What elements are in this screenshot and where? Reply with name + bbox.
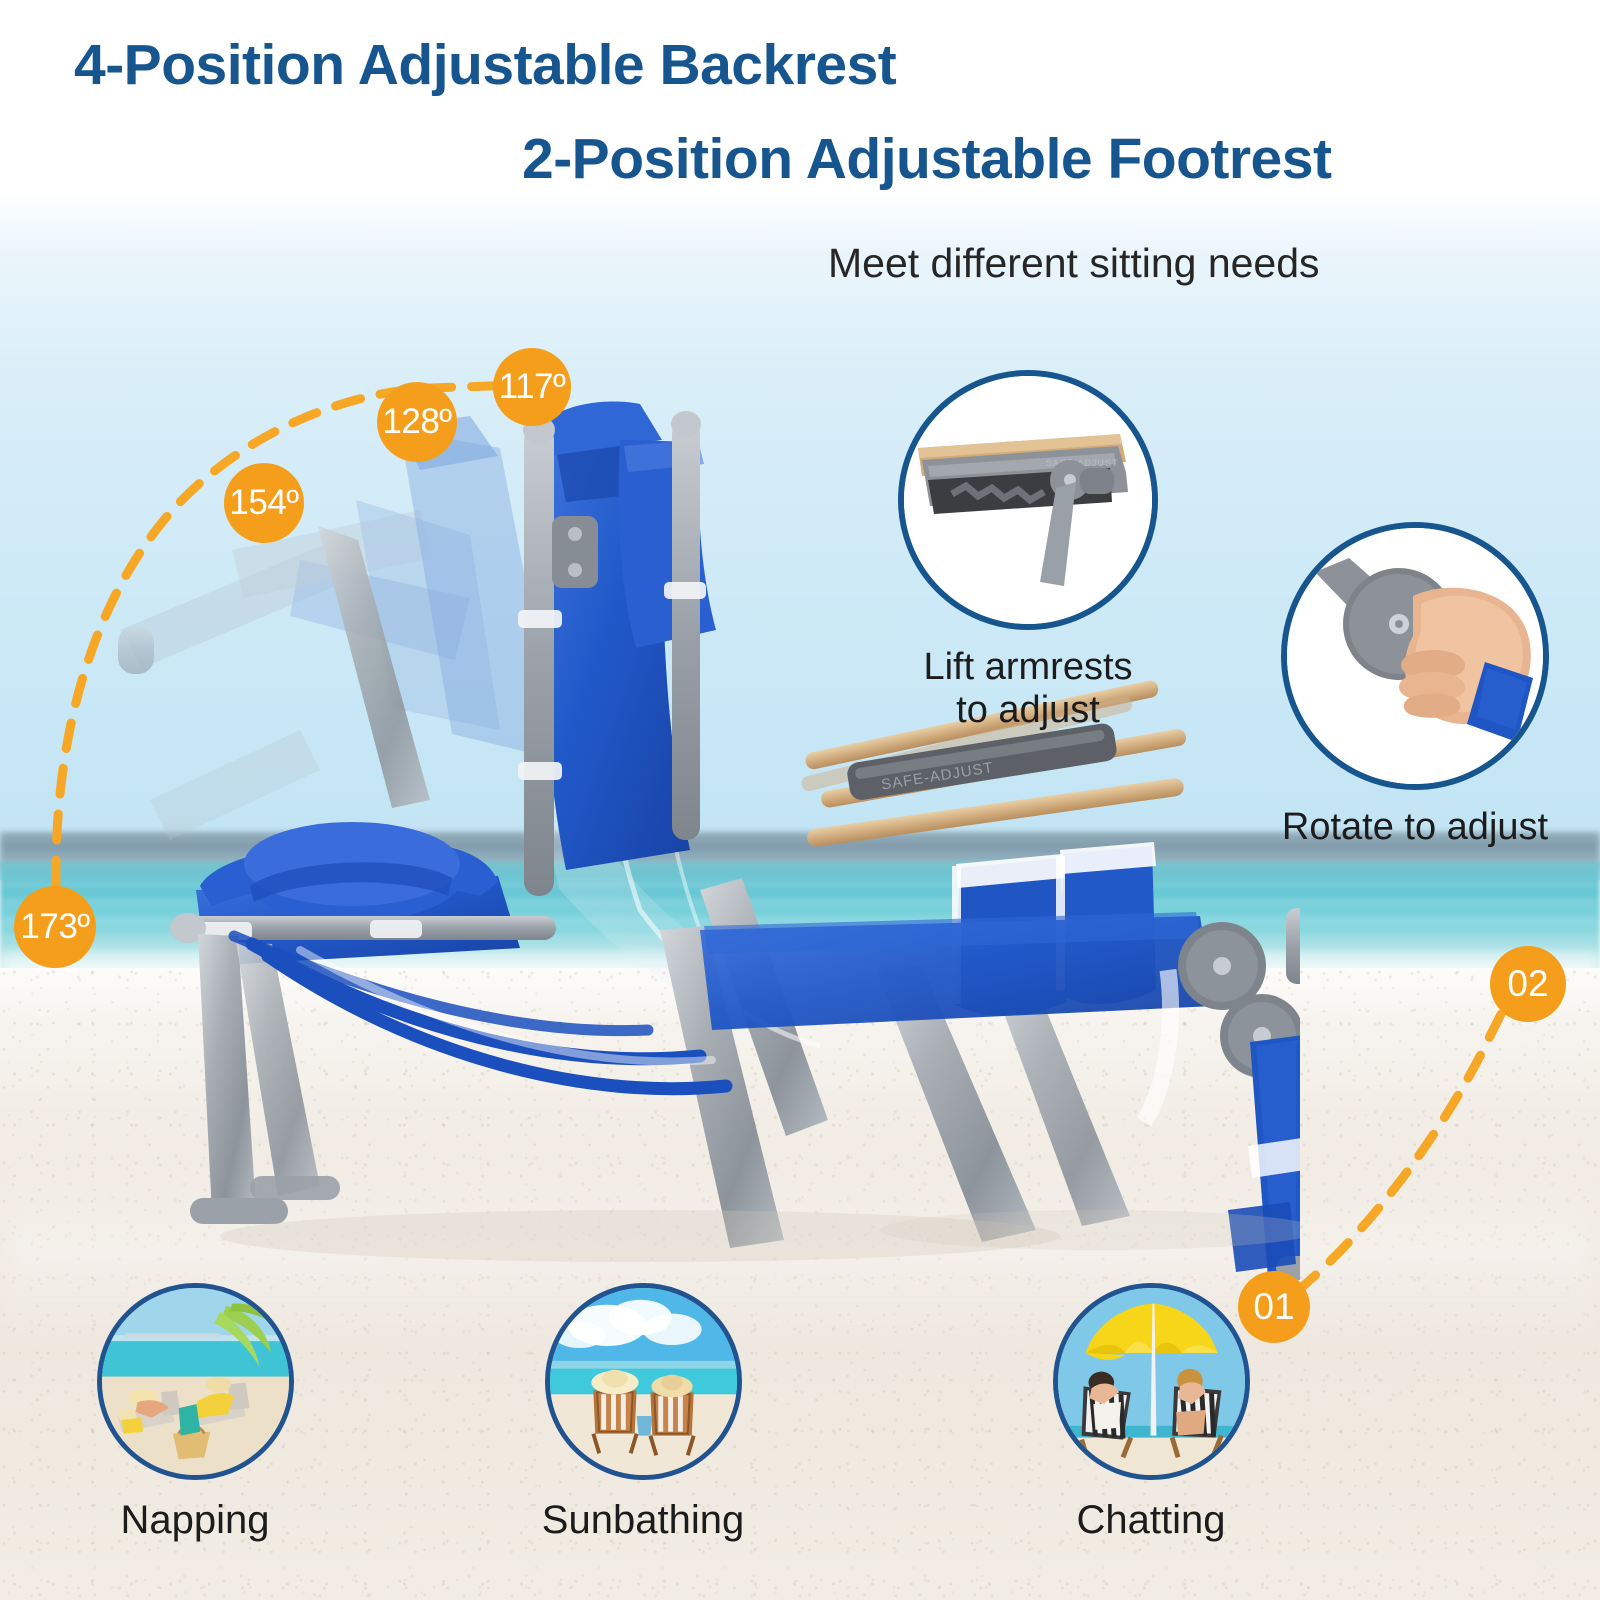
scenario-napping: Napping	[70, 1283, 320, 1543]
two-deck-chairs-icon	[550, 1288, 737, 1475]
beach-loungers-icon	[102, 1288, 289, 1475]
infographic-canvas: 4-Position Adjustable Backrest 2-Positio…	[0, 0, 1600, 1600]
subtitle: Meet different sitting needs	[828, 240, 1320, 287]
chatting-label: Chatting	[1026, 1498, 1276, 1543]
angle-badge-173: 173º	[14, 886, 96, 968]
sunbathing-label: Sunbathing	[518, 1498, 768, 1543]
hand-rotating-knob-icon	[1287, 528, 1543, 784]
yellow-umbrella-icon	[1058, 1288, 1245, 1475]
rotate-caption: Rotate to adjust	[1259, 806, 1571, 849]
callout-lift-armrests: SAFE-ADJUST Lift armrests to adjust	[876, 370, 1180, 731]
scenario-sunbathing: Sunbathing	[518, 1283, 768, 1543]
lift-armrest-photo-ring: SAFE-ADJUST	[898, 370, 1158, 630]
sunbathing-photo-ring	[545, 1283, 742, 1480]
lift-armrest-caption: Lift armrests to adjust	[876, 646, 1180, 731]
headline-line-1: 4-Position Adjustable Backrest	[74, 36, 896, 95]
angle-badge-128: 128º	[377, 382, 457, 462]
angle-badge-154: 154º	[224, 463, 304, 543]
napping-photo-ring	[97, 1283, 294, 1480]
angle-badge-117: 117º	[493, 348, 571, 426]
scenario-chatting: Chatting	[1026, 1283, 1276, 1543]
callout-rotate-to-adjust: Rotate to adjust	[1259, 522, 1571, 849]
chair-backrest	[518, 402, 716, 896]
footrest-extended	[1286, 884, 1300, 984]
napping-label: Napping	[70, 1498, 320, 1543]
footrest-badge-02: 02	[1490, 946, 1566, 1022]
armrest-hinge-icon: SAFE-ADJUST	[904, 376, 1152, 624]
headline-line-2: 2-Position Adjustable Footrest	[522, 130, 1331, 189]
chatting-photo-ring	[1053, 1283, 1250, 1480]
rotate-knob-photo-ring	[1281, 522, 1549, 790]
